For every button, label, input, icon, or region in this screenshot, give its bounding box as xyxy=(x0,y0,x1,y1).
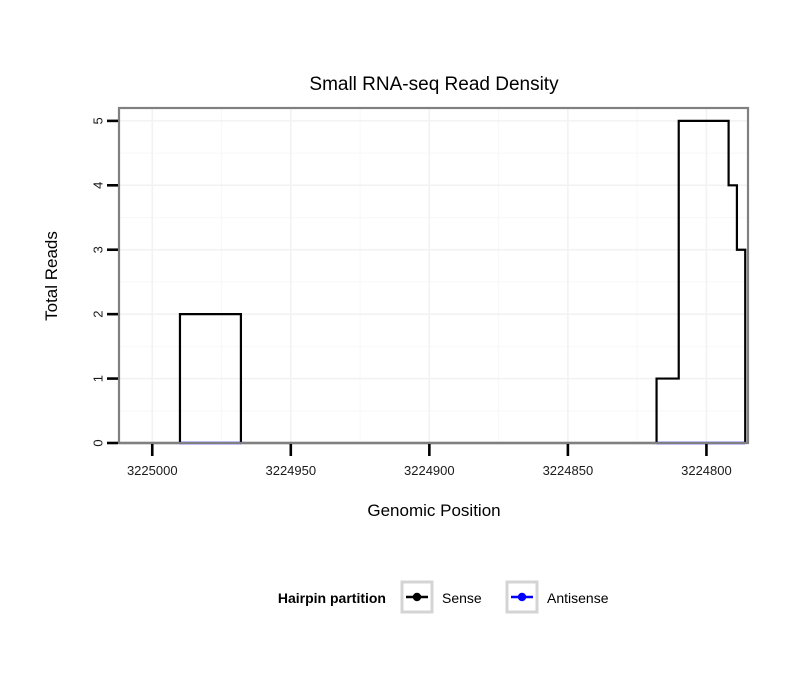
legend-entry-sense[interactable] xyxy=(402,582,432,612)
x-axis-title: Genomic Position xyxy=(367,501,500,520)
y-tick-label: 3 xyxy=(90,246,105,253)
chart-title: Small RNA-seq Read Density xyxy=(309,74,559,95)
y-tick-label: 4 xyxy=(90,182,105,189)
y-axis-title: Total Reads xyxy=(42,231,61,321)
legend-entry-label: Antisense xyxy=(547,590,609,606)
chart-figure: Small RNA-seq Read Density 012345 322500… xyxy=(0,0,810,690)
y-tick-label: 5 xyxy=(90,117,105,124)
legend-entry-label: Sense xyxy=(442,590,482,606)
chart-svg: Small RNA-seq Read Density 012345 322500… xyxy=(0,0,810,690)
x-tick-label: 3225000 xyxy=(127,463,178,478)
legend-key-point xyxy=(413,593,421,601)
legend-key-point xyxy=(518,593,526,601)
legend-title: Hairpin partition xyxy=(278,590,386,606)
legend-entry-antisense[interactable] xyxy=(507,582,537,612)
y-tick-label: 2 xyxy=(90,311,105,318)
x-tick-label: 3224950 xyxy=(265,463,316,478)
plot-panel-background xyxy=(119,108,748,443)
x-tick-label: 3224850 xyxy=(543,463,594,478)
y-tick-label: 1 xyxy=(90,375,105,382)
x-tick-label: 3224800 xyxy=(681,463,732,478)
y-tick-label: 0 xyxy=(90,439,105,446)
x-tick-label: 3224900 xyxy=(404,463,455,478)
